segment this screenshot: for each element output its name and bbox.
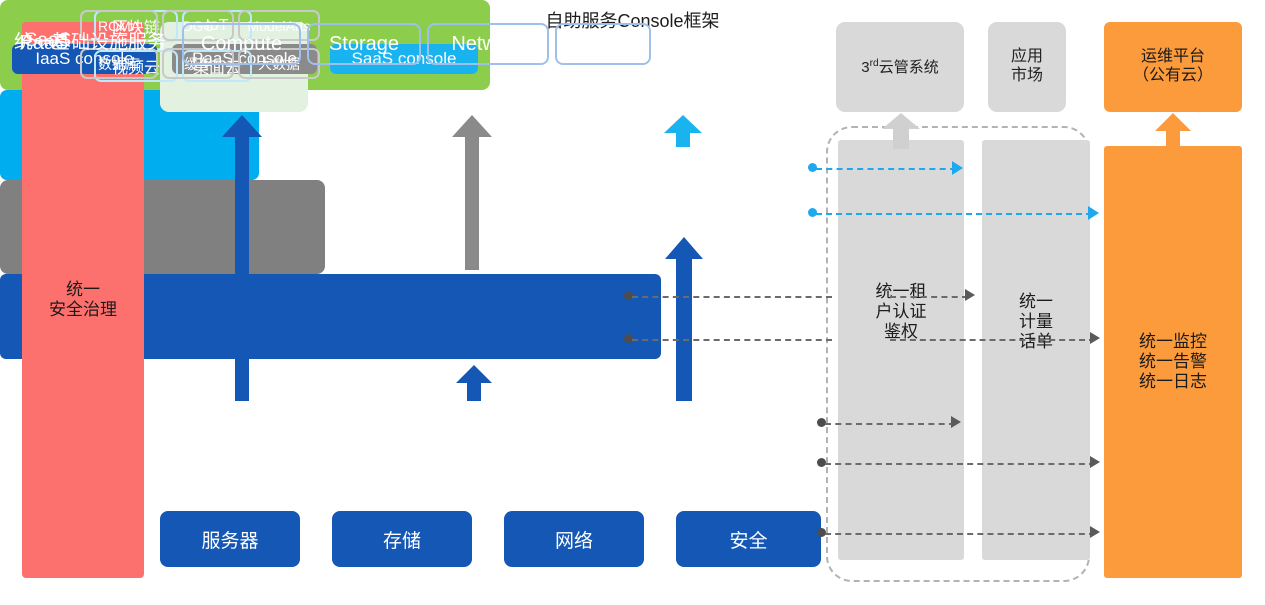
ops-platform-line-1: 运维平台: [1133, 48, 1213, 67]
dashed-line-paas-to-metering: [632, 339, 832, 341]
infra-chip-label: Compute: [201, 33, 282, 56]
dashed-line-security-to-ops: [825, 533, 1095, 535]
arrow-ops-body-to-header: [1155, 113, 1191, 149]
dashed-line-metering-to-ops: [890, 339, 1095, 341]
app-market-line-2: 市场: [1011, 67, 1043, 86]
ops-platform-body-block: 统一监控 统一告警 统一日志: [1104, 146, 1242, 578]
infra-chip-label: Storage: [329, 33, 399, 56]
app-market-line-1: 应用: [1011, 48, 1043, 67]
unified-security-governance-block: 统一 安全治理: [22, 22, 144, 578]
third-party-cloud-mgmt-block: 3rd云管系统: [836, 22, 964, 112]
third-party-text: 3rd云管系统: [861, 58, 938, 77]
ops-body-line-1: 统一监控: [1139, 332, 1207, 352]
arrow-infra-to-api-gateway: [222, 115, 262, 401]
unified-tenant-auth-column: 统一租 户认证 鉴权: [838, 140, 964, 560]
arrowhead-tenant-auth-to-metering: [965, 289, 975, 301]
infra-chip-network[interactable]: Network: [427, 23, 549, 65]
unified-metering-column: 统一 计量 话单: [982, 140, 1090, 560]
arrowhead-metering-to-ops: [1090, 332, 1100, 344]
resource-tile-label: 安全: [729, 526, 767, 553]
metering-line-3: 话单: [1019, 332, 1053, 352]
resource-tile-label: 服务器: [201, 526, 258, 553]
infra-chip-label: Network: [451, 33, 524, 56]
arrowhead-security-to-ops: [1090, 526, 1100, 538]
dashed-line-saas-to-ops: [816, 213, 1092, 215]
dashed-line-saas-to-tenant-auth: [816, 168, 956, 170]
resource-tile-label: 网络: [555, 526, 593, 553]
resource-tile-security[interactable]: 安全: [676, 511, 821, 567]
tenant-auth-line-1: 统一租: [876, 282, 927, 302]
arrow-infra-to-paas: [456, 365, 492, 401]
arrow-infra-to-saas: [665, 237, 703, 401]
metering-line-1: 统一: [1019, 292, 1053, 312]
arrowhead-infra-to-ops: [1090, 456, 1100, 468]
infra-chip-label: CCE: [582, 33, 624, 56]
arrowhead-saas-to-ops: [1088, 206, 1099, 220]
ops-platform-line-2: （公有云）: [1133, 67, 1213, 86]
resource-tile-network[interactable]: 网络: [504, 511, 644, 567]
dashed-line-infra-to-ops: [825, 463, 1095, 465]
tenant-auth-line-2: 户认证: [876, 302, 927, 322]
arrowhead-infra-to-tenant-auth: [951, 416, 961, 428]
metering-line-2: 计量: [1019, 312, 1053, 332]
paas-chip-label: 数据库: [98, 54, 140, 74]
infra-chip-storage[interactable]: Storage: [307, 23, 421, 65]
resource-tile-server[interactable]: 服务器: [160, 511, 300, 567]
unified-infrastructure-label: 统一基础设施服务: [14, 27, 166, 54]
ops-body-line-3: 统一日志: [1139, 372, 1207, 392]
third-party-superscript: rd: [870, 58, 879, 69]
ops-platform-header-block: 运维平台 （公有云）: [1104, 22, 1242, 112]
app-market-block: 应用 市场: [988, 22, 1066, 112]
dashed-line-tenant-auth-to-metering: [890, 296, 968, 298]
arrow-group-to-third-party: [882, 113, 920, 149]
arrow-saas-to-console: [664, 115, 702, 147]
dashed-line-infra-to-tenant-auth: [825, 423, 955, 425]
resource-tile-storage[interactable]: 存储: [332, 511, 472, 567]
governance-line-2: 安全治理: [49, 300, 117, 320]
arrow-paas-to-console: [452, 115, 492, 270]
resource-tile-label: 存储: [383, 526, 421, 553]
ops-body-line-2: 统一告警: [1139, 352, 1207, 372]
architecture-diagram: 统一 安全治理 API网关 自助服务Console框架 IaaS console…: [0, 0, 1265, 605]
dashed-line-paas-to-tenant-auth: [632, 296, 832, 298]
infra-chip-cce[interactable]: CCE: [555, 23, 651, 65]
governance-line-1: 统一: [49, 280, 117, 300]
infra-chip-compute[interactable]: Compute: [182, 23, 301, 65]
arrowhead-saas-to-tenant-auth: [952, 161, 963, 175]
